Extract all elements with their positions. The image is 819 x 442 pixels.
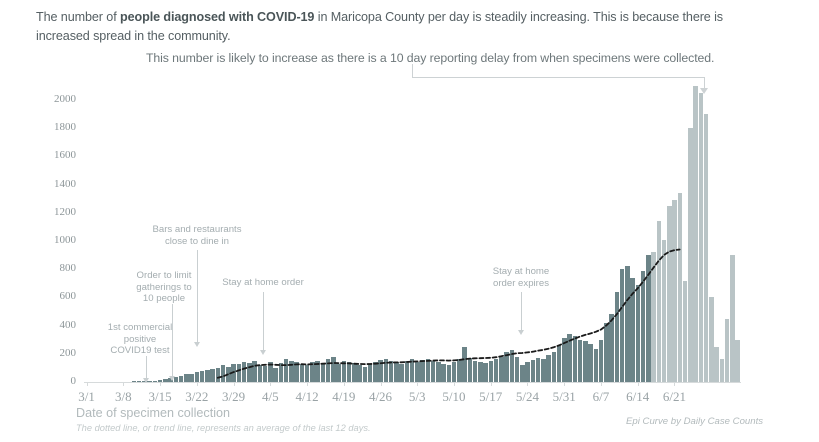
annotation-stay-at-home-expires: Stay at homeorder expires bbox=[461, 266, 581, 289]
chart-source-label: Epi Curve by Daily Case Counts bbox=[626, 416, 763, 427]
x-axis-tickmark bbox=[417, 382, 418, 386]
x-axis-line bbox=[84, 382, 741, 383]
chart-page: The number of people diagnosed with COVI… bbox=[0, 0, 819, 442]
x-axis-tickmark bbox=[601, 382, 602, 386]
annotation-first-commercial-test: 1st commercialpositiveCOVID19 test bbox=[80, 322, 200, 357]
y-axis-tick-label: 1400 bbox=[32, 178, 76, 190]
chart-note: The dotted line, or trend line, represen… bbox=[76, 423, 371, 433]
y-axis-tick-label: 1200 bbox=[32, 206, 76, 218]
annotation-arrowhead-icon bbox=[194, 342, 200, 347]
annotation-arrow-stay-at-home-expires bbox=[521, 292, 522, 330]
annotation-line: positive bbox=[80, 334, 200, 346]
annotation-arrow-stay-at-home-order bbox=[263, 292, 264, 350]
x-axis-tickmark bbox=[307, 382, 308, 386]
annotation-line: close to dine in bbox=[137, 236, 257, 248]
annotation-arrow-order-limit-gatherings bbox=[172, 304, 173, 376]
annotation-stay-at-home-order: Stay at home order bbox=[203, 277, 323, 289]
annotation-line: 1st commercial bbox=[80, 322, 200, 334]
annotation-arrow-first-commercial-test bbox=[146, 356, 147, 378]
x-axis-tickmark bbox=[344, 382, 345, 386]
y-axis-tick-label: 800 bbox=[32, 262, 76, 274]
y-axis-tick-label: 2000 bbox=[32, 93, 76, 105]
annotation-line: Stay at home bbox=[461, 266, 581, 278]
annotation-arrowhead-icon bbox=[260, 350, 266, 355]
x-axis-tickmark bbox=[564, 382, 565, 386]
y-axis-tick-label: 0 bbox=[32, 375, 76, 387]
y-axis-tick-label: 1000 bbox=[32, 234, 76, 246]
y-axis-tick-label: 1600 bbox=[32, 149, 76, 161]
annotation-arrow-bars-restaurants-close bbox=[197, 250, 198, 342]
annotation-bars-restaurants-close: Bars and restaurantsclose to dine in bbox=[137, 224, 257, 247]
annotation-arrowhead-icon bbox=[169, 376, 175, 381]
x-axis-tickmark bbox=[638, 382, 639, 386]
x-axis-tickmark bbox=[381, 382, 382, 386]
x-axis-tickmark bbox=[527, 382, 528, 386]
x-axis-tickmark bbox=[197, 382, 198, 386]
annotation-line: 10 people bbox=[104, 293, 224, 305]
annotation-line: Bars and restaurants bbox=[137, 224, 257, 236]
y-axis-tick-label: 600 bbox=[32, 290, 76, 302]
annotation-arrowhead-icon bbox=[518, 330, 524, 335]
x-axis-tickmark bbox=[491, 382, 492, 386]
x-axis-tickmark bbox=[87, 382, 88, 386]
x-axis-tickmark bbox=[234, 382, 235, 386]
bottom-divider bbox=[0, 438, 819, 442]
annotation-line: order expires bbox=[461, 278, 581, 290]
epi-curve-chart: 0200400600800100012001400160018002000 3/… bbox=[0, 0, 819, 442]
x-axis-tickmark bbox=[674, 382, 675, 386]
y-axis-tick-label: 400 bbox=[32, 319, 76, 331]
annotation-line: COVID19 test bbox=[80, 345, 200, 357]
x-axis-tickmark bbox=[454, 382, 455, 386]
trend-line-path bbox=[218, 250, 680, 378]
x-axis-tickmark bbox=[270, 382, 271, 386]
x-axis-tick-label: 6/21 bbox=[648, 389, 700, 405]
x-axis-title: Date of specimen collection bbox=[76, 406, 230, 420]
x-axis-tickmark bbox=[160, 382, 161, 386]
y-axis-tick-label: 1800 bbox=[32, 121, 76, 133]
y-axis-tick-label: 200 bbox=[32, 347, 76, 359]
annotation-line: Stay at home order bbox=[203, 277, 323, 289]
annotation-arrowhead-icon bbox=[143, 378, 149, 383]
x-axis-tickmark bbox=[123, 382, 124, 386]
